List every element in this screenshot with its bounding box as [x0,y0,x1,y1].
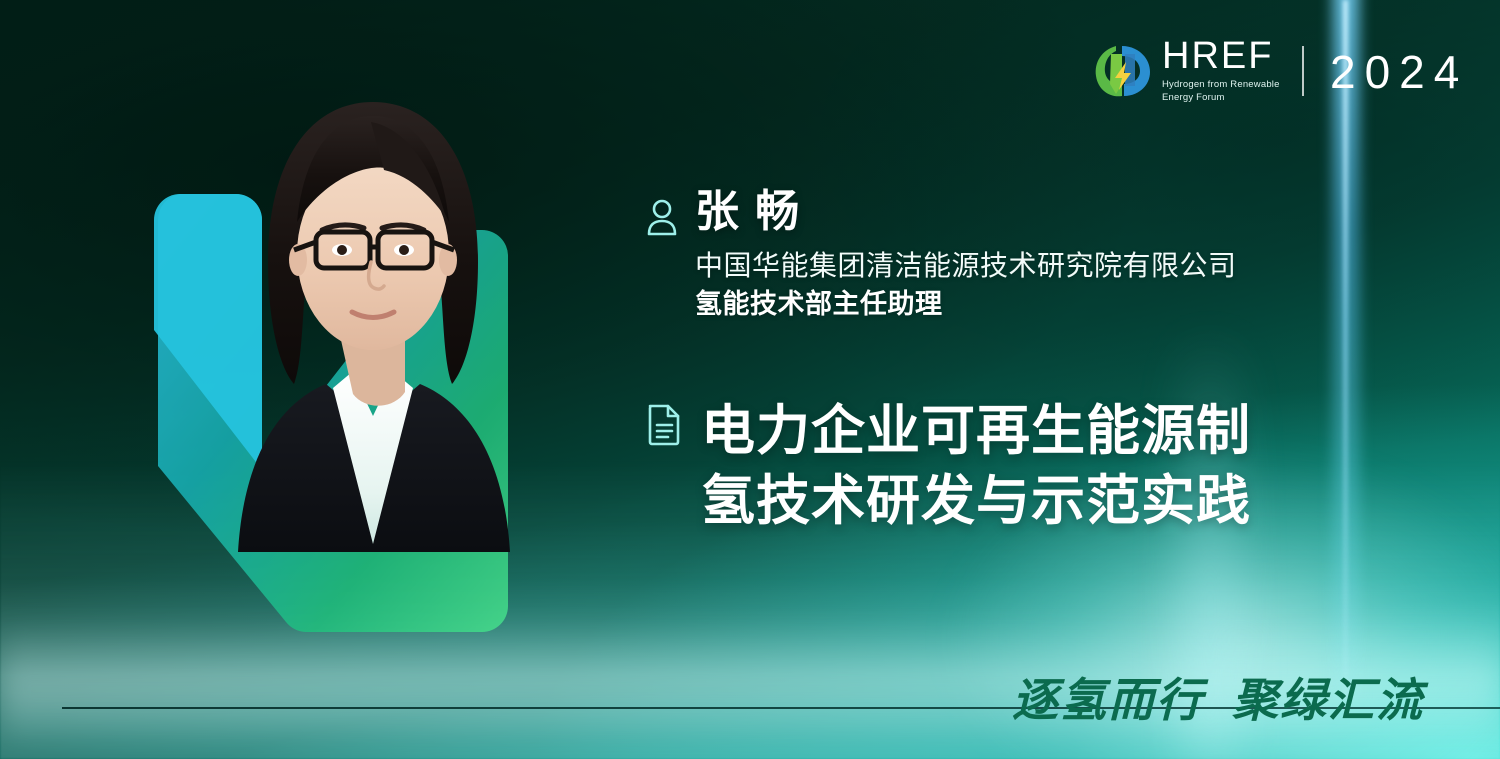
topic-title-line-1: 电力企业可再生能源制 [701,396,1251,466]
speaker-organization: 中国华能集团清洁能源技术研究院有限公司 [695,246,1237,286]
speaker-role: 氢能技术部主任助理 [695,286,1237,323]
topic-title-line-2: 氢技术研发与示范实践 [701,466,1251,536]
event-speaker-card: HREF Hydrogen from Renewable Energy Foru… [0,0,1500,759]
brand-title: HREF [1162,37,1280,75]
event-slogan: 逐氢而行聚绿汇流 [1012,664,1424,730]
slogan-right: 聚绿汇流 [1232,674,1424,726]
brand-subtitle: Hydrogen from Renewable Energy Forum [1162,79,1280,104]
href-logo-mark [1092,40,1154,102]
speaker-block: 张 畅 中国华能集团清洁能源技术研究院有限公司 氢能技术部主任助理 [645,186,1445,323]
brand-divider [1302,46,1304,96]
slogan-left: 逐氢而行 [1012,674,1204,726]
event-year: 2024 [1330,47,1468,95]
document-icon [645,402,683,446]
brand-header: HREF Hydrogen from Renewable Energy Foru… [1092,36,1468,106]
topic-block: 电力企业可再生能源制 氢技术研发与示范实践 [645,396,1465,536]
topic-title: 电力企业可再生能源制 氢技术研发与示范实践 [701,396,1251,536]
speaker-portrait [208,72,538,552]
speaker-name: 张 畅 [695,186,1237,238]
person-icon [645,198,679,236]
